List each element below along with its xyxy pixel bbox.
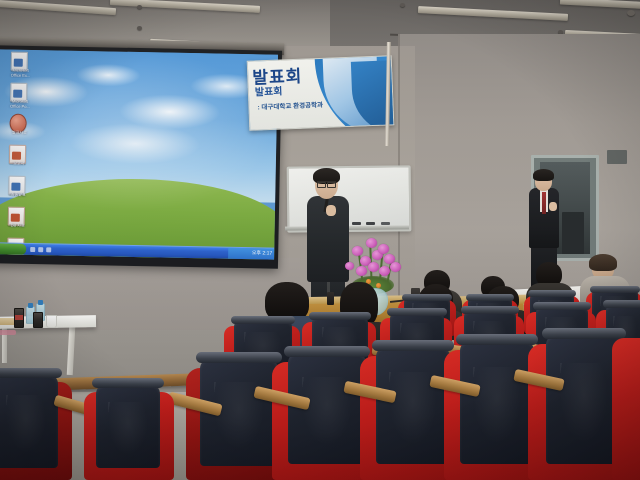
quicklaunch-icon[interactable] xyxy=(30,247,35,252)
orchid-flower xyxy=(390,262,401,272)
sprinkler-icon xyxy=(627,10,635,16)
orchid-flower xyxy=(366,238,377,248)
system-tray[interactable]: 오후 2:17 xyxy=(228,248,274,260)
orchid-flower xyxy=(368,262,379,272)
whiteboard-marker xyxy=(366,222,375,225)
whiteboard-marker xyxy=(352,222,361,225)
desktop-icon-list: Microsoft Office Ex... Microsoft Office … xyxy=(0,51,43,259)
eyeglasses-icon xyxy=(317,181,336,186)
quicklaunch-icon[interactable] xyxy=(46,247,51,252)
can-label xyxy=(15,315,23,320)
orchid-flower xyxy=(345,262,354,270)
desktop-icon[interactable]: Microsoft Office Po... xyxy=(0,82,42,112)
event-banner: 발표회 발표회 : 대구대학교 환경공학과 xyxy=(247,55,395,131)
desktop-icon[interactable]: 보고서 xyxy=(0,144,41,174)
staff-hand xyxy=(549,202,557,211)
beverage-can xyxy=(14,308,24,328)
quicklaunch-icon[interactable] xyxy=(38,247,43,252)
audience-hair xyxy=(589,254,617,271)
sprinkler-icon xyxy=(137,5,142,9)
taskbar-clock: 오후 2:17 xyxy=(252,250,272,257)
desktop-icon[interactable]: 발표자료 xyxy=(0,113,42,143)
projection-screen-frame: Microsoft Office Ex... Microsoft Office … xyxy=(0,45,282,268)
sprinkler-icon xyxy=(137,26,142,30)
staff-hair xyxy=(533,169,554,181)
wall-panel xyxy=(607,150,627,164)
orchid-flower xyxy=(379,266,390,276)
whiteboard-eraser xyxy=(381,222,390,225)
beverage-can xyxy=(33,312,43,328)
lecture-hall-photo: Microsoft Office Ex... Microsoft Office … xyxy=(0,0,640,480)
desktop-icon[interactable]: 최종발표 xyxy=(0,175,41,205)
object-in-doorway xyxy=(562,212,584,254)
orchid-flower xyxy=(356,266,367,276)
tabletop-item xyxy=(0,330,16,335)
projection-screen: Microsoft Office Ex... Microsoft Office … xyxy=(0,49,278,259)
whiteboard xyxy=(287,165,412,232)
desktop-icon[interactable]: Microsoft Office Ex... xyxy=(0,51,43,81)
sprinkler-icon xyxy=(400,3,405,7)
staff-necktie xyxy=(542,192,546,214)
presenter-hand xyxy=(326,205,336,216)
start-button[interactable] xyxy=(0,243,26,255)
desktop-icon[interactable]: DB 자료 xyxy=(0,206,40,236)
thermos xyxy=(327,292,334,305)
orchid-flower xyxy=(378,244,389,254)
paper-cup xyxy=(46,315,57,328)
orchid-flower xyxy=(352,246,363,256)
